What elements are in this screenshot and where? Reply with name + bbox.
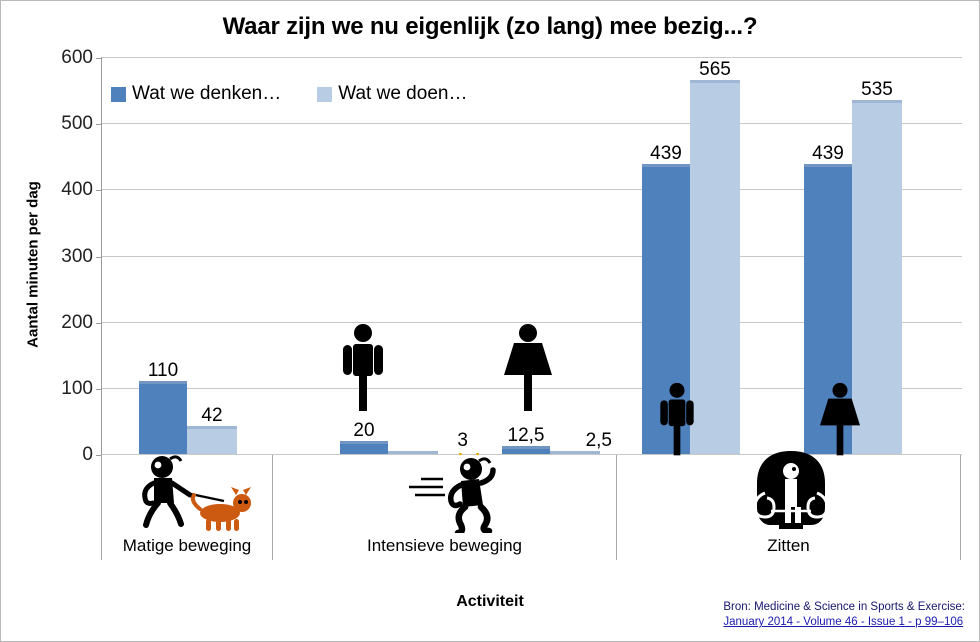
category-cell-zitten: Zitten [617,455,961,560]
tick-mark-200 [96,323,102,324]
legend-item-denken[interactable]: Wat we denken… [111,83,281,105]
bar-label-matige-doen: 42 [201,405,222,427]
legend-label-doen: Wat we doen… [338,83,467,105]
bar-intensieve-man-denken[interactable]: 20 [340,441,388,454]
legend-swatch-doen-icon [317,87,332,102]
chart-title: Waar zijn we nu eigenlijk (zo lang) mee … [1,13,979,41]
tick-mark-600 [96,58,102,59]
bar-matige-denken[interactable]: 110 [139,381,187,454]
bar-label-zitten-vrouw-doen: 535 [861,79,893,101]
male-figure-icon [340,323,386,413]
bar-label-matige-denken: 110 [148,360,178,382]
bar-zitten-man-denken[interactable]: 439 [642,164,690,455]
category-axis: Matige beweging [101,455,961,560]
plot-area: 600 500 400 300 200 100 0 110 [101,57,962,455]
bar-label-intensieve-vrouw-denken: 12,5 [508,425,545,447]
category-label-intensieve-beweging: Intensieve beweging [273,536,616,556]
bar-label-intensieve-man-denken: 20 [353,420,374,442]
bar-intensieve-vrouw-doen[interactable]: 2,5 [550,451,600,454]
source-line-1: Bron: Medicine & Science in Sports & Exe… [723,601,965,613]
y-tick-0: 0 [82,444,93,466]
running-person-icon [403,453,513,533]
category-label-matige-beweging: Matige beweging [102,536,272,556]
y-tick-300: 300 [61,246,93,268]
bar-intensieve-vrouw-denken[interactable]: 12,5 [502,446,550,454]
bar-zitten-vrouw-doen[interactable]: 535 [852,100,902,454]
bar-intensieve-man-doen[interactable]: 3 [388,451,438,454]
bar-zitten-vrouw-denken[interactable]: 439 [804,164,852,455]
y-axis-title: Aantal minuten per dag [25,155,42,375]
legend-label-denken: Wat we denken… [132,83,281,105]
y-tick-500: 500 [61,113,93,135]
tick-mark-400 [96,190,102,191]
chart-container: Waar zijn we nu eigenlijk (zo lang) mee … [0,0,980,642]
y-tick-400: 400 [61,179,93,201]
y-tick-600: 600 [61,47,93,69]
y-tick-200: 200 [61,312,93,334]
tick-mark-300 [96,257,102,258]
tick-mark-500 [96,124,102,125]
bar-label-intensieve-vrouw-doen: 2,5 [586,430,612,452]
bar-matige-doen[interactable]: 42 [187,426,237,454]
bar-label-intensieve-man-doen: 3 [457,430,468,452]
bar-label-zitten-man-denken: 439 [650,143,682,165]
legend-swatch-denken-icon [111,87,126,102]
bar-label-zitten-vrouw-denken: 439 [812,143,844,165]
source-note: Bron: Medicine & Science in Sports & Exe… [723,600,965,631]
bar-label-zitten-man-doen: 565 [699,59,731,81]
walking-person-with-dog-icon [120,453,260,533]
legend: Wat we denken… Wat we doen… [111,83,467,105]
gridline-500: 500 [102,123,962,124]
y-tick-100: 100 [61,378,93,400]
gridline-600: 600 [102,57,962,58]
category-cell-intensieve-beweging: Intensieve beweging [273,455,617,560]
category-label-zitten: Zitten [617,536,960,556]
category-cell-matige-beweging: Matige beweging [101,455,273,560]
source-link[interactable]: January 2014 - Volume 46 - Issue 1 - p 9… [723,615,965,631]
female-figure-icon [502,323,554,413]
legend-item-doen[interactable]: Wat we doen… [317,83,467,105]
armchair-icon [745,449,837,533]
bar-zitten-man-doen[interactable]: 565 [690,80,740,454]
tick-mark-100 [96,389,102,390]
